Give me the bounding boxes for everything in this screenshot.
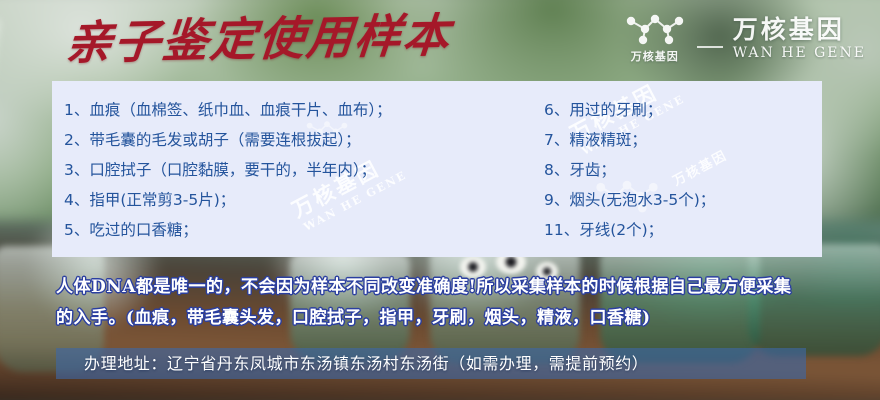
brand-logo: 万核基因 万核基因 WAN HE GENE <box>623 12 866 64</box>
note-paragraph: 人体DNA都是唯一的，不会因为样本不同改变准确度!所以采集样本的时候根据自己最方… <box>56 272 836 334</box>
list-item: 4、指甲(正常剪3-5片)； <box>64 185 492 215</box>
list-item: 2、带毛囊的毛发或胡子（需要连根拔起）； <box>64 125 492 155</box>
brand-text: 万核基因 WAN HE GENE <box>733 16 866 61</box>
page-title: 亲子鉴定使用样本 <box>64 6 454 72</box>
note-line: 人体DNA都是唯一的，不会因为样本不同改变准确度!所以采集样本的时候根据自己最方… <box>56 272 836 303</box>
list-item: 7、精液精斑； <box>544 125 822 155</box>
note-line: 的入手。(血痕，带毛囊头发，口腔拭子，指甲，牙刷，烟头，精液，口香糖) <box>56 303 836 334</box>
brand-divider <box>697 46 723 48</box>
dna-molecule-icon <box>623 12 687 46</box>
brand-mark-label: 万核基因 <box>631 48 679 64</box>
list-item: 6、用过的牙刷； <box>544 95 822 125</box>
list-item: 1、血痕（血棉签、纸巾血、血痕干片、血布）； <box>64 95 492 125</box>
sample-column-left: 1、血痕（血棉签、纸巾血、血痕干片、血布）； 2、带毛囊的毛发或胡子（需要连根拔… <box>52 95 492 257</box>
brand-name-en: WAN HE GENE <box>733 45 866 61</box>
poster-root: 亲子鉴定使用样本 <box>0 0 880 400</box>
list-item: 5、吃过的口香糖； <box>64 215 492 245</box>
sample-column-right: 6、用过的牙刷； 7、精液精斑； 8、牙齿； 9、烟头(无泡水3-5个)； 11… <box>492 95 822 257</box>
list-item: 11、牙线(2个)； <box>544 215 822 245</box>
list-item: 8、牙齿； <box>544 155 822 185</box>
brand-mark: 万核基因 <box>623 12 687 64</box>
list-item: 3、口腔拭子（口腔黏膜，要干的，半年内）； <box>64 155 492 185</box>
list-item: 9、烟头(无泡水3-5个)； <box>544 185 822 215</box>
address-bar: 办理地址：辽宁省丹东凤城市东汤镇东汤村东汤街（如需办理，需提前预约） <box>56 348 806 379</box>
sample-list-panel: 万核基因 WAN HE GENE 万核基因 WAN HE GENE 万核基因 1… <box>52 81 822 257</box>
address-text: 办理地址：辽宁省丹东凤城市东汤镇东汤村东汤街（如需办理，需提前预约） <box>84 354 648 374</box>
brand-name-cn: 万核基因 <box>733 16 845 44</box>
